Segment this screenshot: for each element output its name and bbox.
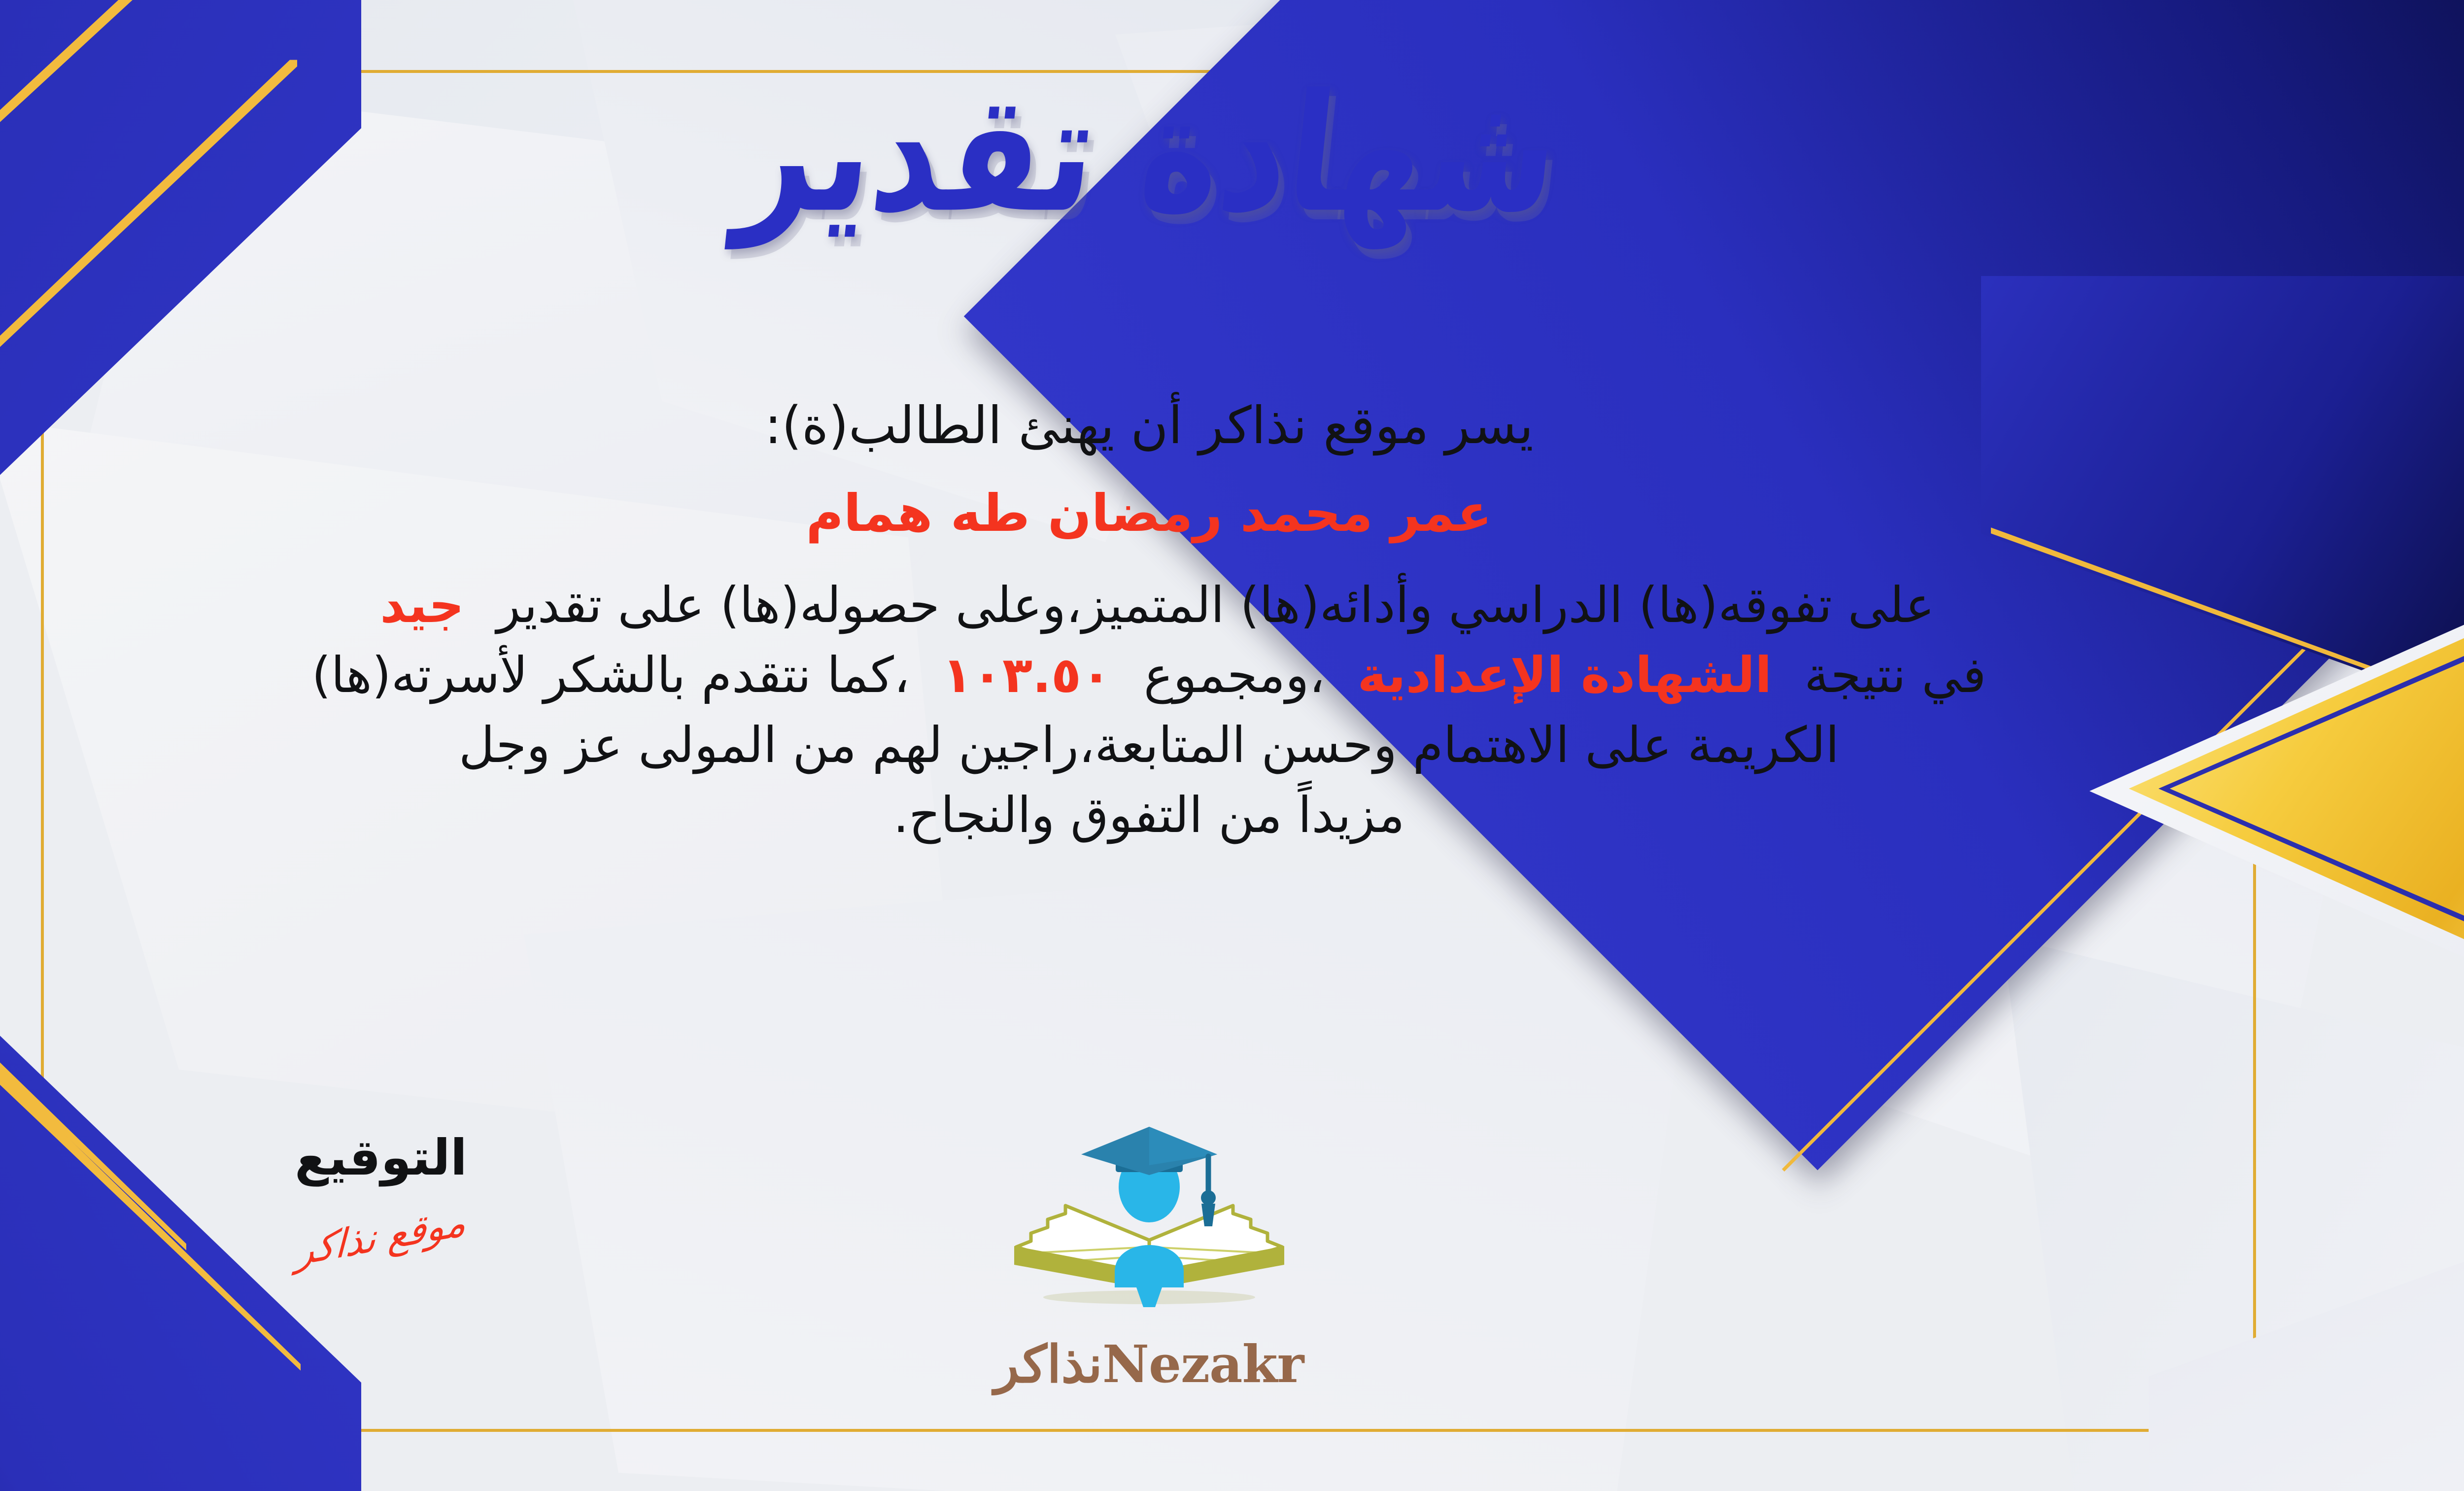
total-score: ١٠٣.٥٠	[925, 646, 1128, 704]
achievement-line: على تفوقه(ها) الدراسي وأدائه(ها) المتميز…	[70, 570, 2227, 640]
achievement-text: على تفوقه(ها) الدراسي وأدائه(ها) المتميز…	[497, 576, 1935, 634]
certificate-body: يسر موقع نذاكر أن يهنئ الطالب(ة): عمر مح…	[70, 389, 2227, 850]
signature-mark: موقع نذاكر	[295, 1200, 467, 1275]
graduate-over-open-book-icon	[996, 1124, 1302, 1331]
family-thanks-line: الكريمة على الاهتمام وحسن المتابعة،راجين…	[70, 710, 2227, 780]
total-label: ،ومجموع	[1144, 646, 1325, 704]
grade-value: جيد	[363, 576, 481, 634]
signature-area: التوقيع موقع نذاكر	[208, 1129, 553, 1259]
page-title: شهادة تقدير	[731, 69, 1566, 239]
greeting-line: يسر موقع نذاكر أن يهنئ الطالب(ة):	[70, 389, 2227, 462]
logo-mark	[996, 1124, 1302, 1331]
student-name: عمر محمد رمضان طه همام	[70, 477, 2227, 550]
certificate-footer: التوقيع موقع نذاكر	[0, 1129, 2464, 1434]
certificate-canvas: شهادة تقدير يسر موقع نذاكر أن يهنئ الطال…	[0, 0, 2464, 1491]
logo-wordmark: Nezakrنذاكر	[962, 1334, 1336, 1394]
certificate-name: الشهادة الإعدادية	[1340, 646, 1788, 704]
in-result-label: في نتيجة	[1804, 646, 1986, 704]
signature-label: التوقيع	[208, 1129, 553, 1186]
brand-logo: Nezakrنذاكر	[962, 1124, 1336, 1394]
closing-line: مزيداً من التفوق والنجاح.	[70, 780, 2227, 850]
certificate-title-block: شهادة تقدير	[0, 84, 2464, 224]
certificate-details-line: في نتيجة الشهادة الإعدادية ،ومجموع ١٠٣.٥…	[70, 640, 2227, 710]
thanks-text: ،كما نتقدم بالشكر لأسرته(ها)	[312, 646, 910, 704]
